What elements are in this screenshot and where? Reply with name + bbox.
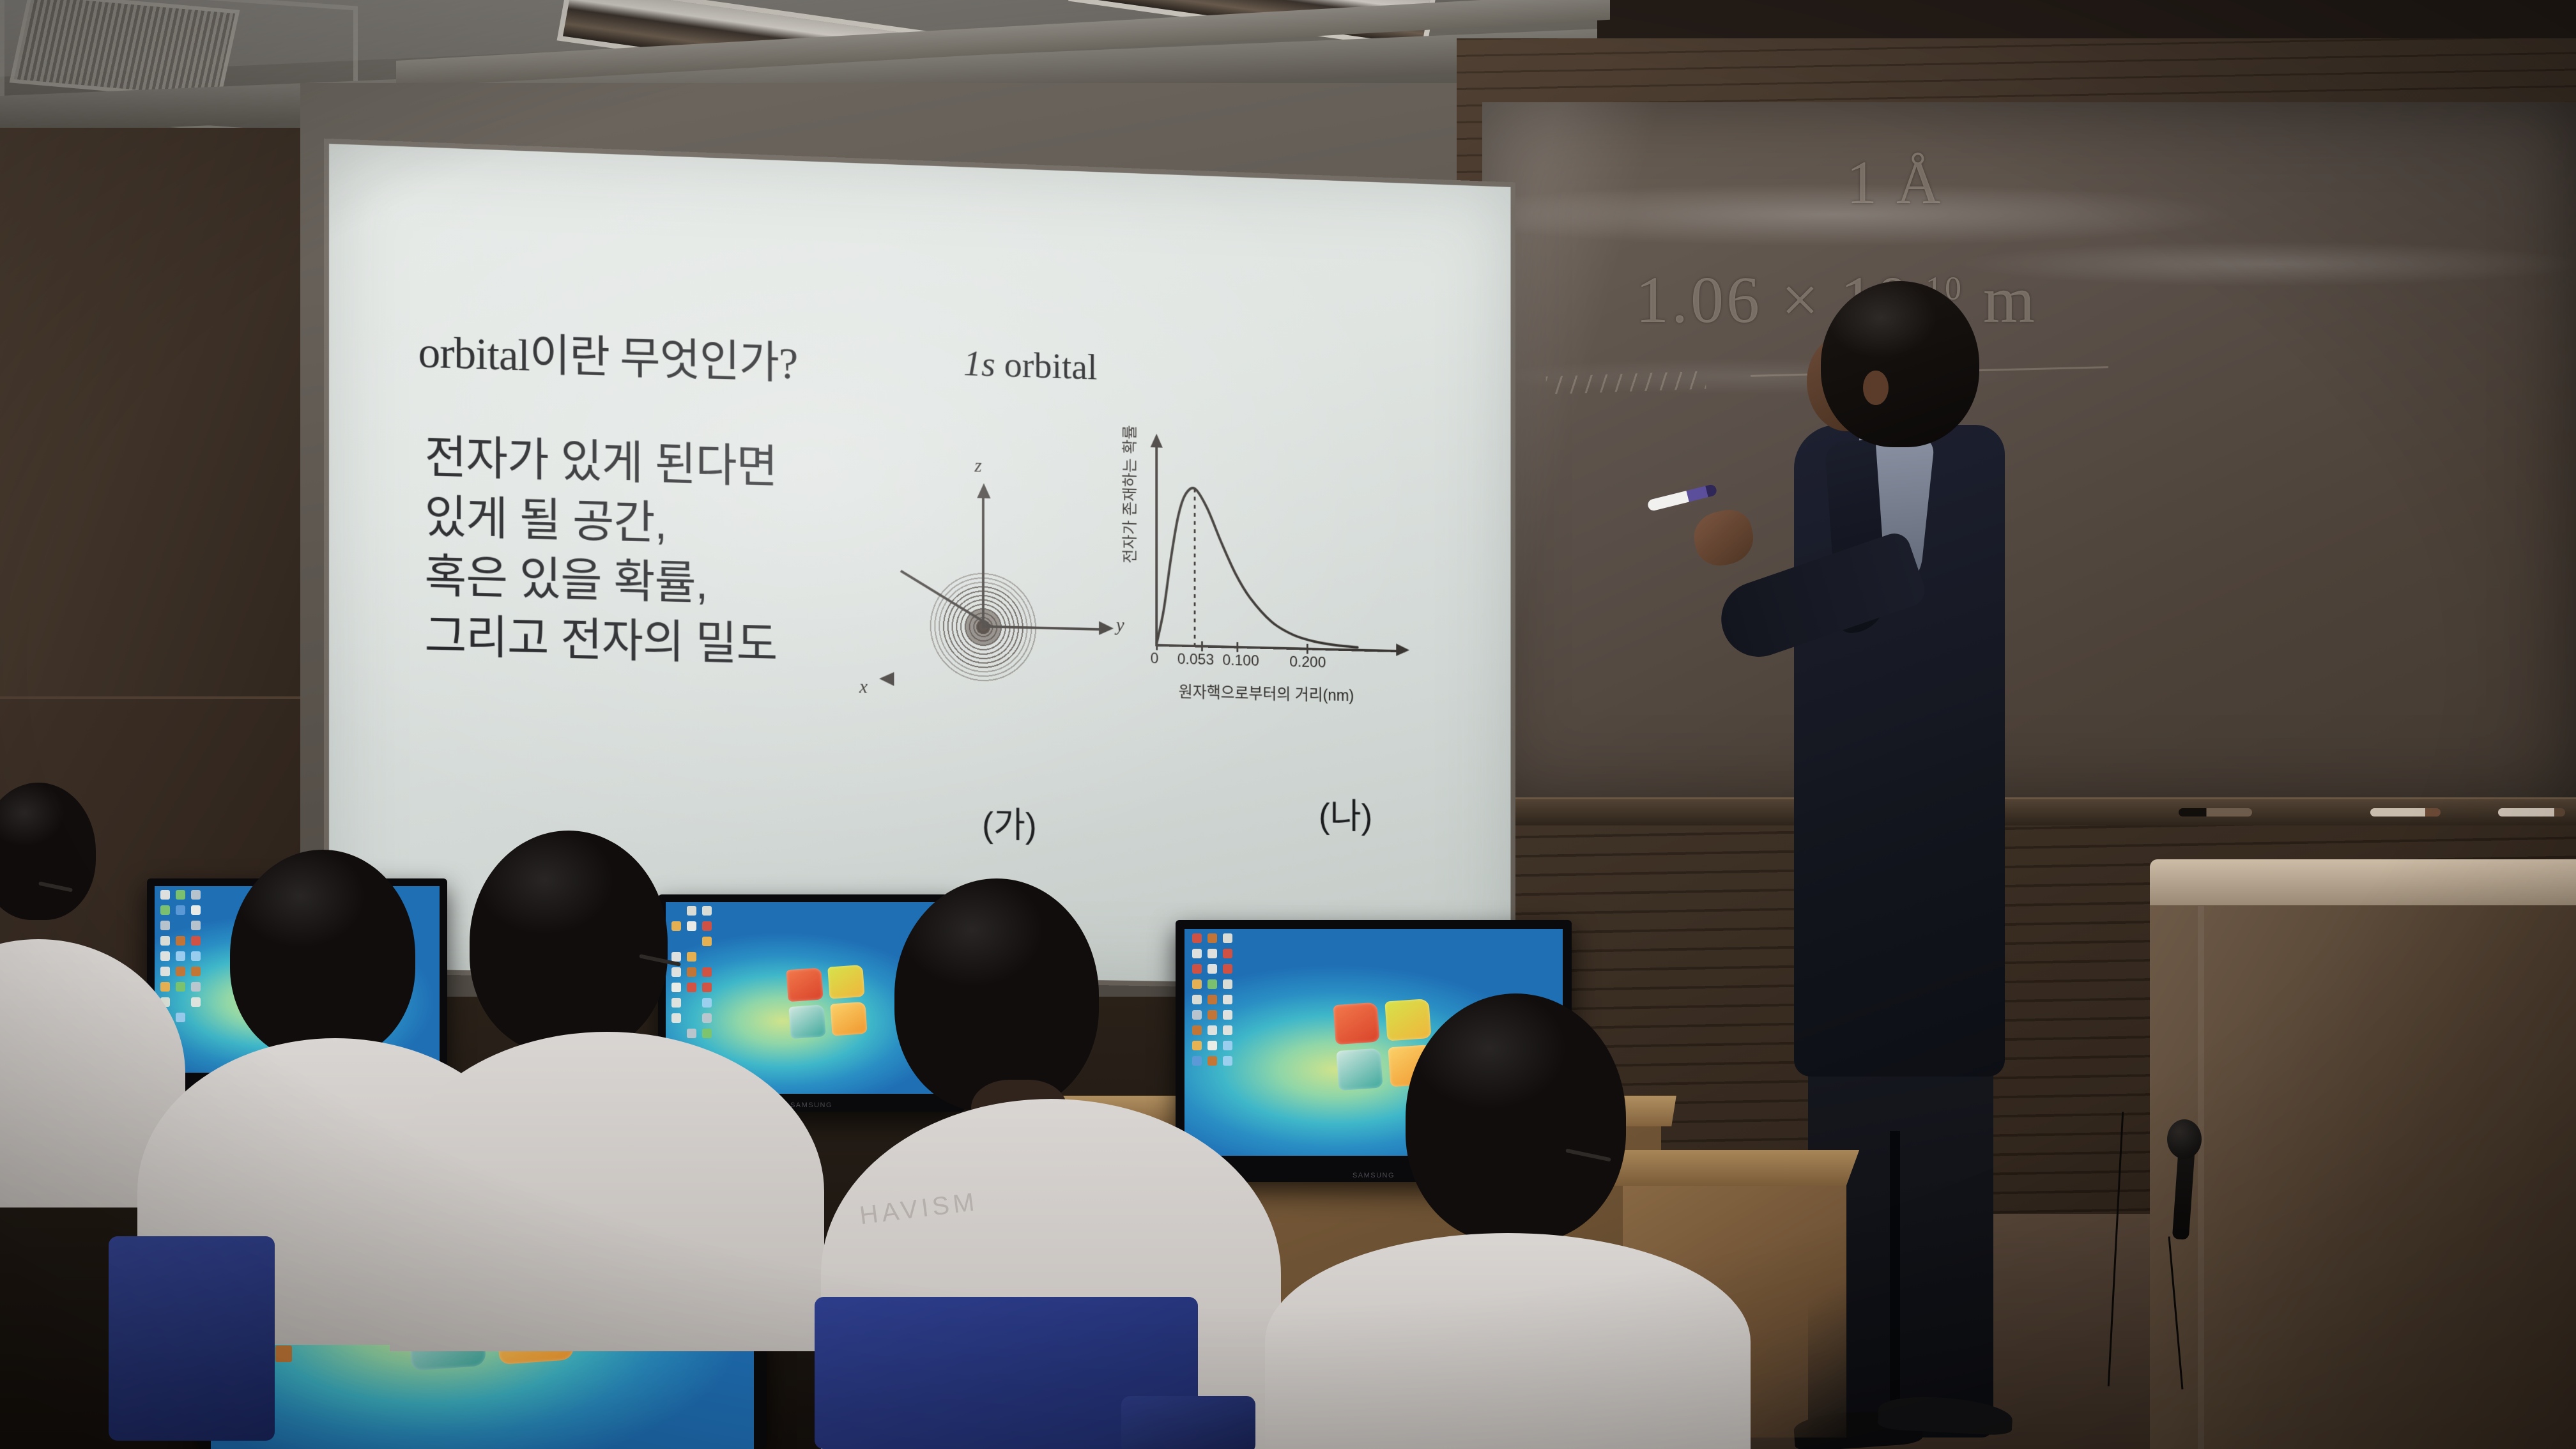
desktop-icon[interactable]: [176, 982, 185, 992]
desktop-icon[interactable]: [687, 967, 696, 977]
lectern-edge: [2198, 906, 2204, 1449]
desktop-icon[interactable]: [1207, 1010, 1217, 1020]
student-center-shirt-text: HAVISM: [858, 1188, 979, 1230]
desktop-icon[interactable]: [687, 906, 696, 916]
desktop-icon[interactable]: [702, 967, 712, 977]
desktop-icon[interactable]: [671, 1013, 681, 1023]
desktop-icon-grid[interactable]: [160, 890, 201, 1022]
desktop-icon[interactable]: [275, 1345, 292, 1362]
desktop-icon[interactable]: [191, 997, 201, 1007]
whiteboard-marker[interactable]: [2498, 808, 2565, 816]
desktop-icon[interactable]: [1223, 1056, 1232, 1066]
desktop-icon[interactable]: [1223, 964, 1232, 974]
desktop-icon[interactable]: [1223, 979, 1232, 989]
desktop-icon[interactable]: [1223, 995, 1232, 1004]
chart-x-tick-label: 0.100: [1222, 652, 1259, 670]
whiteboard-angstrom-note: 1 Å: [1846, 147, 1942, 218]
desktop-icon[interactable]: [1207, 979, 1217, 989]
desktop-icon[interactable]: [1223, 949, 1232, 958]
instructor-leg-gap: [1890, 1131, 1900, 1431]
student-right-shoulders: [1265, 1233, 1751, 1449]
desktop-icon[interactable]: [702, 921, 712, 931]
desktop-icon[interactable]: [1192, 995, 1202, 1004]
desktop-icon[interactable]: [176, 905, 185, 915]
desktop-icon[interactable]: [160, 982, 170, 992]
chart-curve-svg: [1111, 433, 1427, 709]
desktop-icon[interactable]: [176, 951, 185, 961]
chart-x-axis-label: 원자핵으로부터의 거리(nm): [1179, 680, 1354, 707]
desktop-icon-grid[interactable]: [1192, 933, 1232, 1066]
desktop-icon[interactable]: [160, 921, 170, 930]
lectern: [2150, 875, 2576, 1449]
lectern-top-surface: [2150, 859, 2576, 905]
slide-body-text: 전자가 있게 된다면 있게 될 공간, 혹은 있을 확률, 그리고 전자의 밀도: [425, 427, 778, 674]
desktop-icon[interactable]: [1192, 1010, 1202, 1020]
chart-peak-dotted-line: [1194, 489, 1196, 645]
desktop-icon[interactable]: [191, 921, 201, 930]
figure-title: 1s orbital: [963, 342, 1098, 388]
microphone-icon[interactable]: [2167, 1119, 2202, 1159]
slide-body-line: 전자가 있게 된다면: [425, 427, 778, 497]
desktop-icon[interactable]: [160, 905, 170, 915]
desktop-icon[interactable]: [671, 952, 681, 962]
slide-body-line: 그리고 전자의 밀도: [425, 607, 778, 675]
whiteboard-marker[interactable]: [2370, 808, 2441, 816]
slide-body-line: 혹은 있을 확률,: [425, 547, 778, 615]
desktop-icon[interactable]: [671, 921, 681, 931]
desktop-icon[interactable]: [160, 951, 170, 961]
desktop-icon[interactable]: [1223, 933, 1232, 943]
desktop-icon[interactable]: [1192, 1056, 1202, 1066]
desktop-icon[interactable]: [1207, 995, 1217, 1004]
desktop-icon[interactable]: [191, 905, 201, 915]
desktop-icon-grid[interactable]: [671, 906, 712, 1038]
desktop-icon[interactable]: [702, 906, 712, 916]
desktop-icon[interactable]: [687, 921, 696, 931]
student-center-left-head: [470, 831, 668, 1054]
instructor-head: [1821, 281, 1979, 447]
desktop-icon[interactable]: [1192, 1025, 1202, 1035]
desktop-icon[interactable]: [687, 1029, 696, 1038]
desktop-icon[interactable]: [1192, 964, 1202, 974]
desktop-icon[interactable]: [1192, 949, 1202, 958]
desktop-icon[interactable]: [1207, 1056, 1217, 1066]
desktop-icon[interactable]: [160, 890, 170, 900]
desktop-icon[interactable]: [1223, 1041, 1232, 1050]
desktop-icon[interactable]: [191, 951, 201, 961]
desktop-icon[interactable]: [191, 982, 201, 992]
desktop-icon[interactable]: [671, 998, 681, 1008]
chart-x-tick: [1201, 641, 1203, 652]
desktop-icon[interactable]: [176, 890, 185, 900]
desktop-icon[interactable]: [1207, 949, 1217, 958]
figure-title-suffix: orbital: [995, 344, 1098, 388]
classroom-chair[interactable]: [1121, 1396, 1255, 1449]
desktop-icon[interactable]: [702, 937, 712, 946]
desktop-icon[interactable]: [702, 983, 712, 992]
desktop-icon[interactable]: [1207, 1025, 1217, 1035]
windows-logo-icon: [786, 965, 867, 1039]
axis-x-arrow-icon: [879, 671, 894, 686]
classroom-chair[interactable]: [109, 1236, 275, 1441]
student-right-head: [1406, 993, 1626, 1243]
desktop-icon[interactable]: [191, 967, 201, 976]
desktop-icon[interactable]: [160, 936, 170, 946]
desktop-icon[interactable]: [176, 967, 185, 976]
classroom-photo: 1 Å 1.06 × 10-10 m orbital이란 무엇인가? 전자가 있…: [0, 0, 2576, 1449]
chart-x-tick-label: 0.200: [1289, 654, 1326, 672]
desktop-icon[interactable]: [1192, 1041, 1202, 1050]
radial-probability-chart: 0 0.053 0.100 0.200 전자가 존재하는 확률 원자핵으로부터의…: [1111, 433, 1427, 709]
desktop-icon[interactable]: [1192, 933, 1202, 943]
figure-title-orbital-n: 1s: [963, 342, 995, 385]
desktop-icon[interactable]: [160, 967, 170, 976]
figure-caption-right: (나): [1319, 788, 1372, 839]
slide-body-line: 있게 될 공간,: [425, 487, 778, 556]
chart-x-tick: [1236, 642, 1238, 652]
desktop-icon[interactable]: [1207, 1041, 1217, 1050]
desktop-icon[interactable]: [176, 1013, 185, 1022]
desktop-icon[interactable]: [671, 983, 681, 992]
slide-question: orbital이란 무엇인가?: [418, 316, 798, 392]
chart-x-tick-label: 0.053: [1177, 650, 1214, 669]
desktop-icon[interactable]: [191, 936, 201, 946]
axis-z-line: [982, 494, 985, 627]
instructor-ear: [1863, 371, 1889, 405]
desktop-icon[interactable]: [702, 1029, 712, 1038]
chart-x-tick: [1156, 640, 1158, 650]
chart-y-axis-label: 전자가 존재하는 확률: [1118, 422, 1140, 566]
axis-z-arrow-icon: [977, 483, 990, 498]
student-left-head: [230, 850, 415, 1061]
desktop-icon[interactable]: [1192, 979, 1202, 989]
monitor-brand-label: SAMSUNG: [1353, 1172, 1395, 1179]
hair-highlight: [1821, 281, 1979, 447]
student-center-head: [894, 878, 1099, 1112]
desktop-icon[interactable]: [1223, 1010, 1232, 1020]
desktop-icon[interactable]: [671, 967, 681, 977]
desktop-icon[interactable]: [687, 952, 696, 962]
chart-x-tick-label: 0: [1151, 650, 1159, 668]
desktop-icon[interactable]: [702, 998, 712, 1008]
desktop-icon[interactable]: [702, 1013, 712, 1023]
desktop-icon[interactable]: [1207, 964, 1217, 974]
chart-x-tick: [1307, 644, 1308, 654]
axis-x-label: x: [859, 677, 868, 698]
desktop-icon[interactable]: [687, 983, 696, 992]
whiteboard-marker[interactable]: [2179, 808, 2252, 816]
desktop-icon[interactable]: [191, 890, 201, 900]
desktop-icon[interactable]: [176, 936, 185, 946]
axis-z-label: z: [974, 456, 981, 477]
desktop-icon[interactable]: [1207, 933, 1217, 943]
monitor-brand-label: SAMSUNG: [790, 1101, 832, 1109]
desktop-icon[interactable]: [1223, 1025, 1232, 1035]
orbital-3d-figure: z y x: [852, 434, 1111, 692]
figure-caption-left: (가): [982, 796, 1037, 848]
student-center-left-shoulders: [390, 1032, 824, 1351]
